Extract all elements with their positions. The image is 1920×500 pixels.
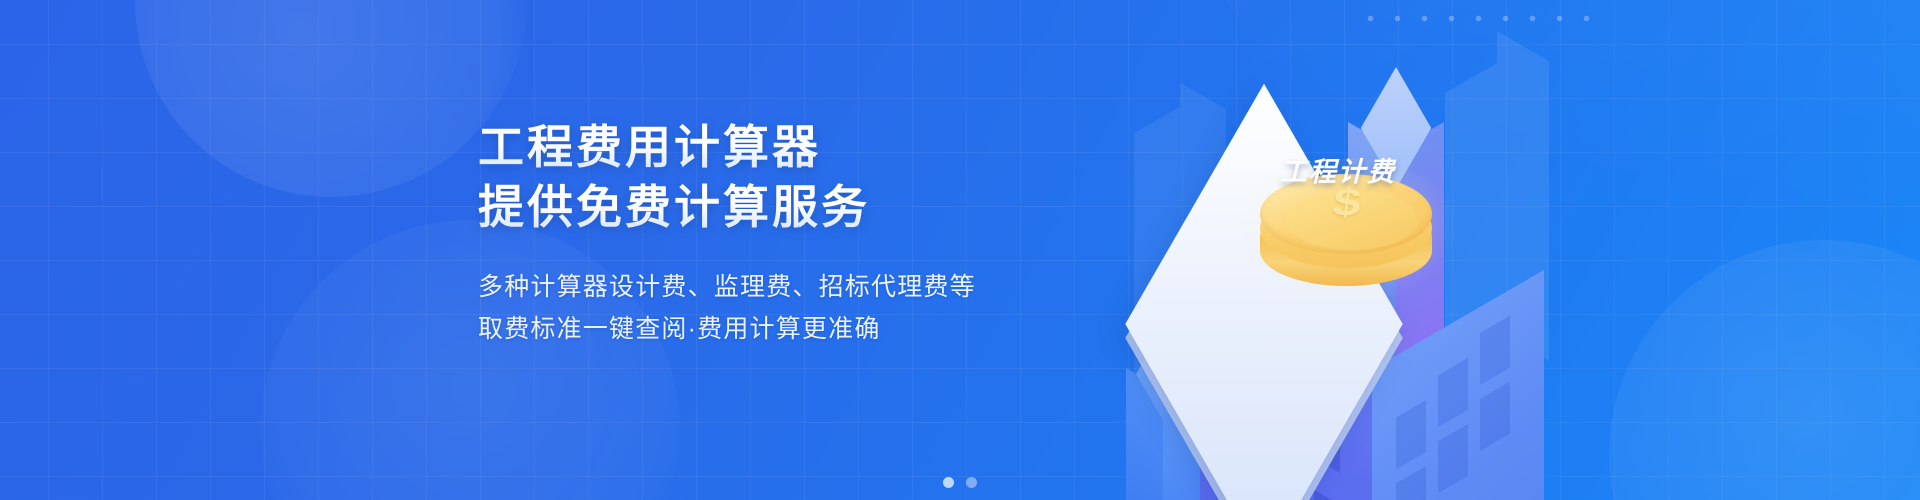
carousel-pagination[interactable] xyxy=(943,477,977,488)
pagination-dot-1[interactable] xyxy=(943,477,954,488)
pagination-dot-2[interactable] xyxy=(966,477,977,488)
banner-illustration: $ 工程计费 xyxy=(1090,0,1610,500)
banner-title-line-2: 提供免费计算服务 xyxy=(478,178,1098,238)
banner-subtitle: 多种计算器设计费、监理费、招标代理费等 取费标准一键查阅·费用计算更准确 xyxy=(478,266,1098,350)
banner-subtitle-line-2: 取费标准一键查阅·费用计算更准确 xyxy=(478,308,1098,350)
hero-banner: 工程费用计算器 提供免费计算服务 多种计算器设计费、监理费、招标代理费等 取费标… xyxy=(0,0,1920,500)
banner-subtitle-line-1: 多种计算器设计费、监理费、招标代理费等 xyxy=(478,266,1098,308)
banner-title-line-1: 工程费用计算器 xyxy=(478,118,1098,178)
banner-copy-block: 工程费用计算器 提供免费计算服务 多种计算器设计费、监理费、招标代理费等 取费标… xyxy=(478,118,1098,350)
illustration-badge-label: 工程计费 xyxy=(1280,150,1396,189)
gold-coin-stack-icon: $ xyxy=(1254,168,1440,308)
